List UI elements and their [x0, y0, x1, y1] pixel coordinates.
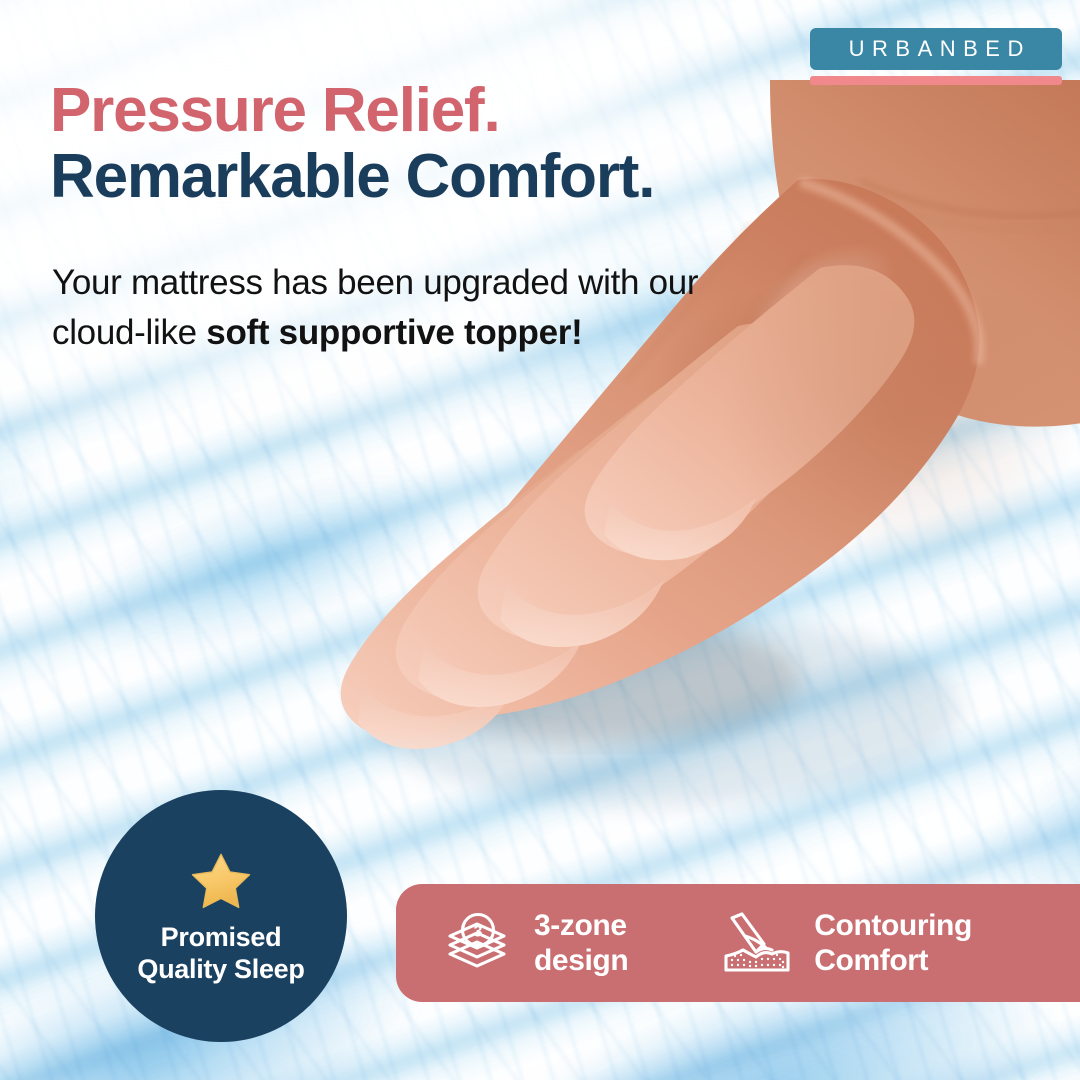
headline-line-2: Remarkable Comfort.: [50, 144, 950, 210]
feature-label-3-zone-design: 3-zone design: [534, 908, 628, 978]
feature-label-contouring-comfort: Contouring Comfort: [814, 908, 972, 978]
feature-item-3-zone-design[interactable]: 3 3-zone design: [440, 908, 628, 978]
star-icon: [190, 850, 252, 912]
quality-badge: Promised Quality Sleep: [95, 790, 347, 1042]
layered-stack-three-zone-icon: 3: [440, 910, 514, 976]
badge-label-line-2: Quality Sleep: [137, 954, 304, 986]
body-text-emphasis: soft supportive topper!: [206, 313, 582, 352]
headline-group: Pressure Relief. Remarkable Comfort.: [50, 78, 950, 211]
badge-label: Promised Quality Sleep: [137, 922, 304, 986]
hand-photo: [300, 120, 1080, 860]
brand-name: URBANBED: [841, 36, 1031, 62]
feature-bar: 3 3-zone design: [396, 884, 1080, 1002]
hand-pressing-mattress-icon: [720, 910, 794, 976]
brand-logo[interactable]: URBANBED: [810, 28, 1062, 85]
body-paragraph: Your mattress has been upgraded with our…: [52, 258, 712, 357]
headline-line-1: Pressure Relief.: [50, 78, 950, 144]
logo-plate: URBANBED: [810, 28, 1062, 70]
feature-item-contouring-comfort[interactable]: Contouring Comfort: [720, 908, 972, 978]
badge-label-line-1: Promised: [137, 922, 304, 954]
promo-graphic: URBANBED Pressure Relief. Remarkable Com…: [0, 0, 1080, 1080]
icon-badge-number: 3: [474, 924, 483, 941]
